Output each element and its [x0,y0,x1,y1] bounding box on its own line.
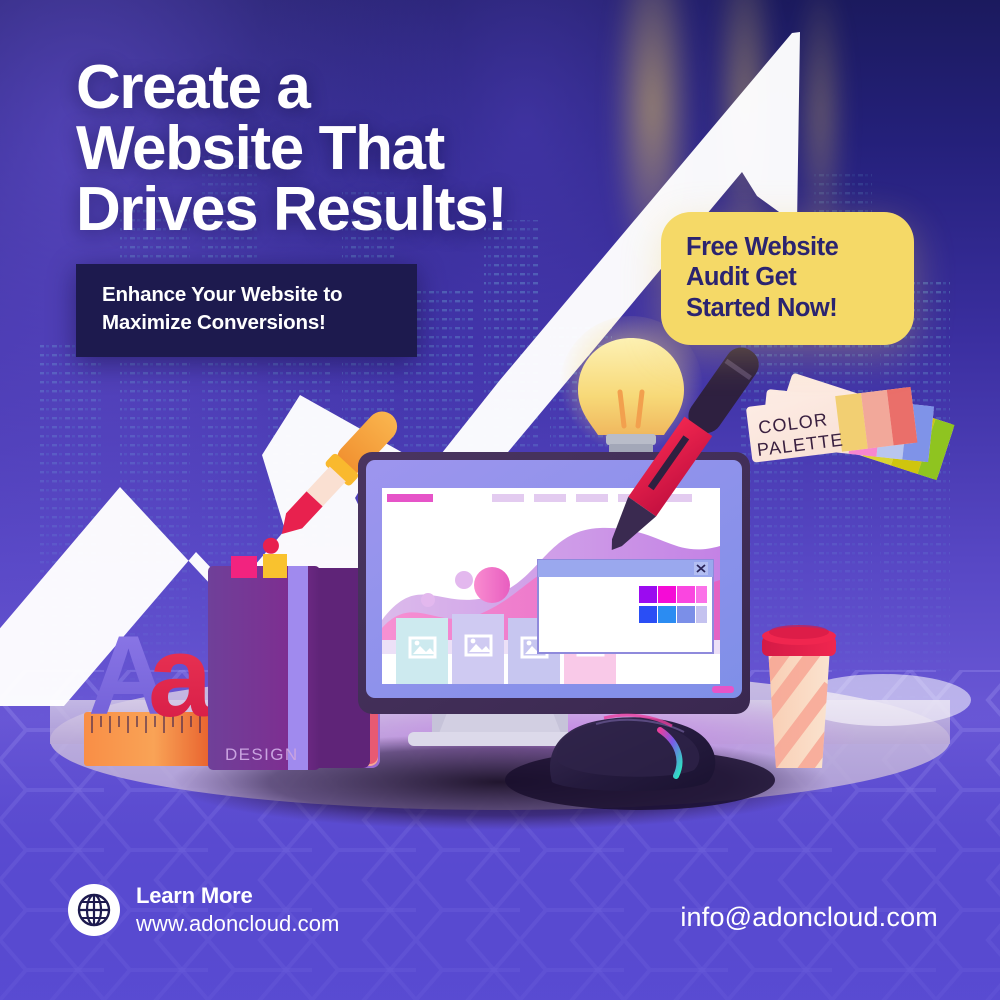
contact-email[interactable]: info@adoncloud.com [680,902,938,933]
svg-text:a: a [148,611,214,741]
headline-line-1: Create a [76,58,636,119]
notebook-label: DESIGN [225,745,299,764]
subtitle-box: Enhance Your Website to Maximize Convers… [76,264,417,357]
subtitle-line-1: Enhance Your Website to [102,281,395,309]
poster-canvas: A a DESIGN [0,0,1000,1000]
screen-logo-bar [387,494,433,502]
badge-line-2: Audit Get [686,262,890,292]
swatch-row-1 [639,586,707,603]
subtitle-line-2: Maximize Conversions! [102,309,395,337]
color-palette-fan: COLOR PALETTE [746,372,955,480]
badge-line-3: Started Now! [686,293,890,323]
website-url[interactable]: www.adoncloud.com [136,912,339,937]
close-icon[interactable] [694,562,708,575]
cta-badge[interactable]: Free Website Audit Get Started Now! [661,212,914,345]
headline-line-3: Drives Results! [76,180,636,241]
page-title: Create a Website That Drives Results! [76,58,636,240]
design-notebook: DESIGN [208,554,380,770]
monitor-led [712,686,734,693]
typography-letters-icon: A a [88,611,214,741]
swatch-row-2 [639,606,707,623]
learn-more-label: Learn More [136,884,339,909]
headline-line-2: Website That [76,119,636,180]
globe-icon [68,884,120,936]
badge-line-1: Free Website [686,232,890,262]
color-picker-dialog[interactable] [538,560,713,653]
footer-website-link[interactable]: Learn More www.adoncloud.com [68,884,339,936]
